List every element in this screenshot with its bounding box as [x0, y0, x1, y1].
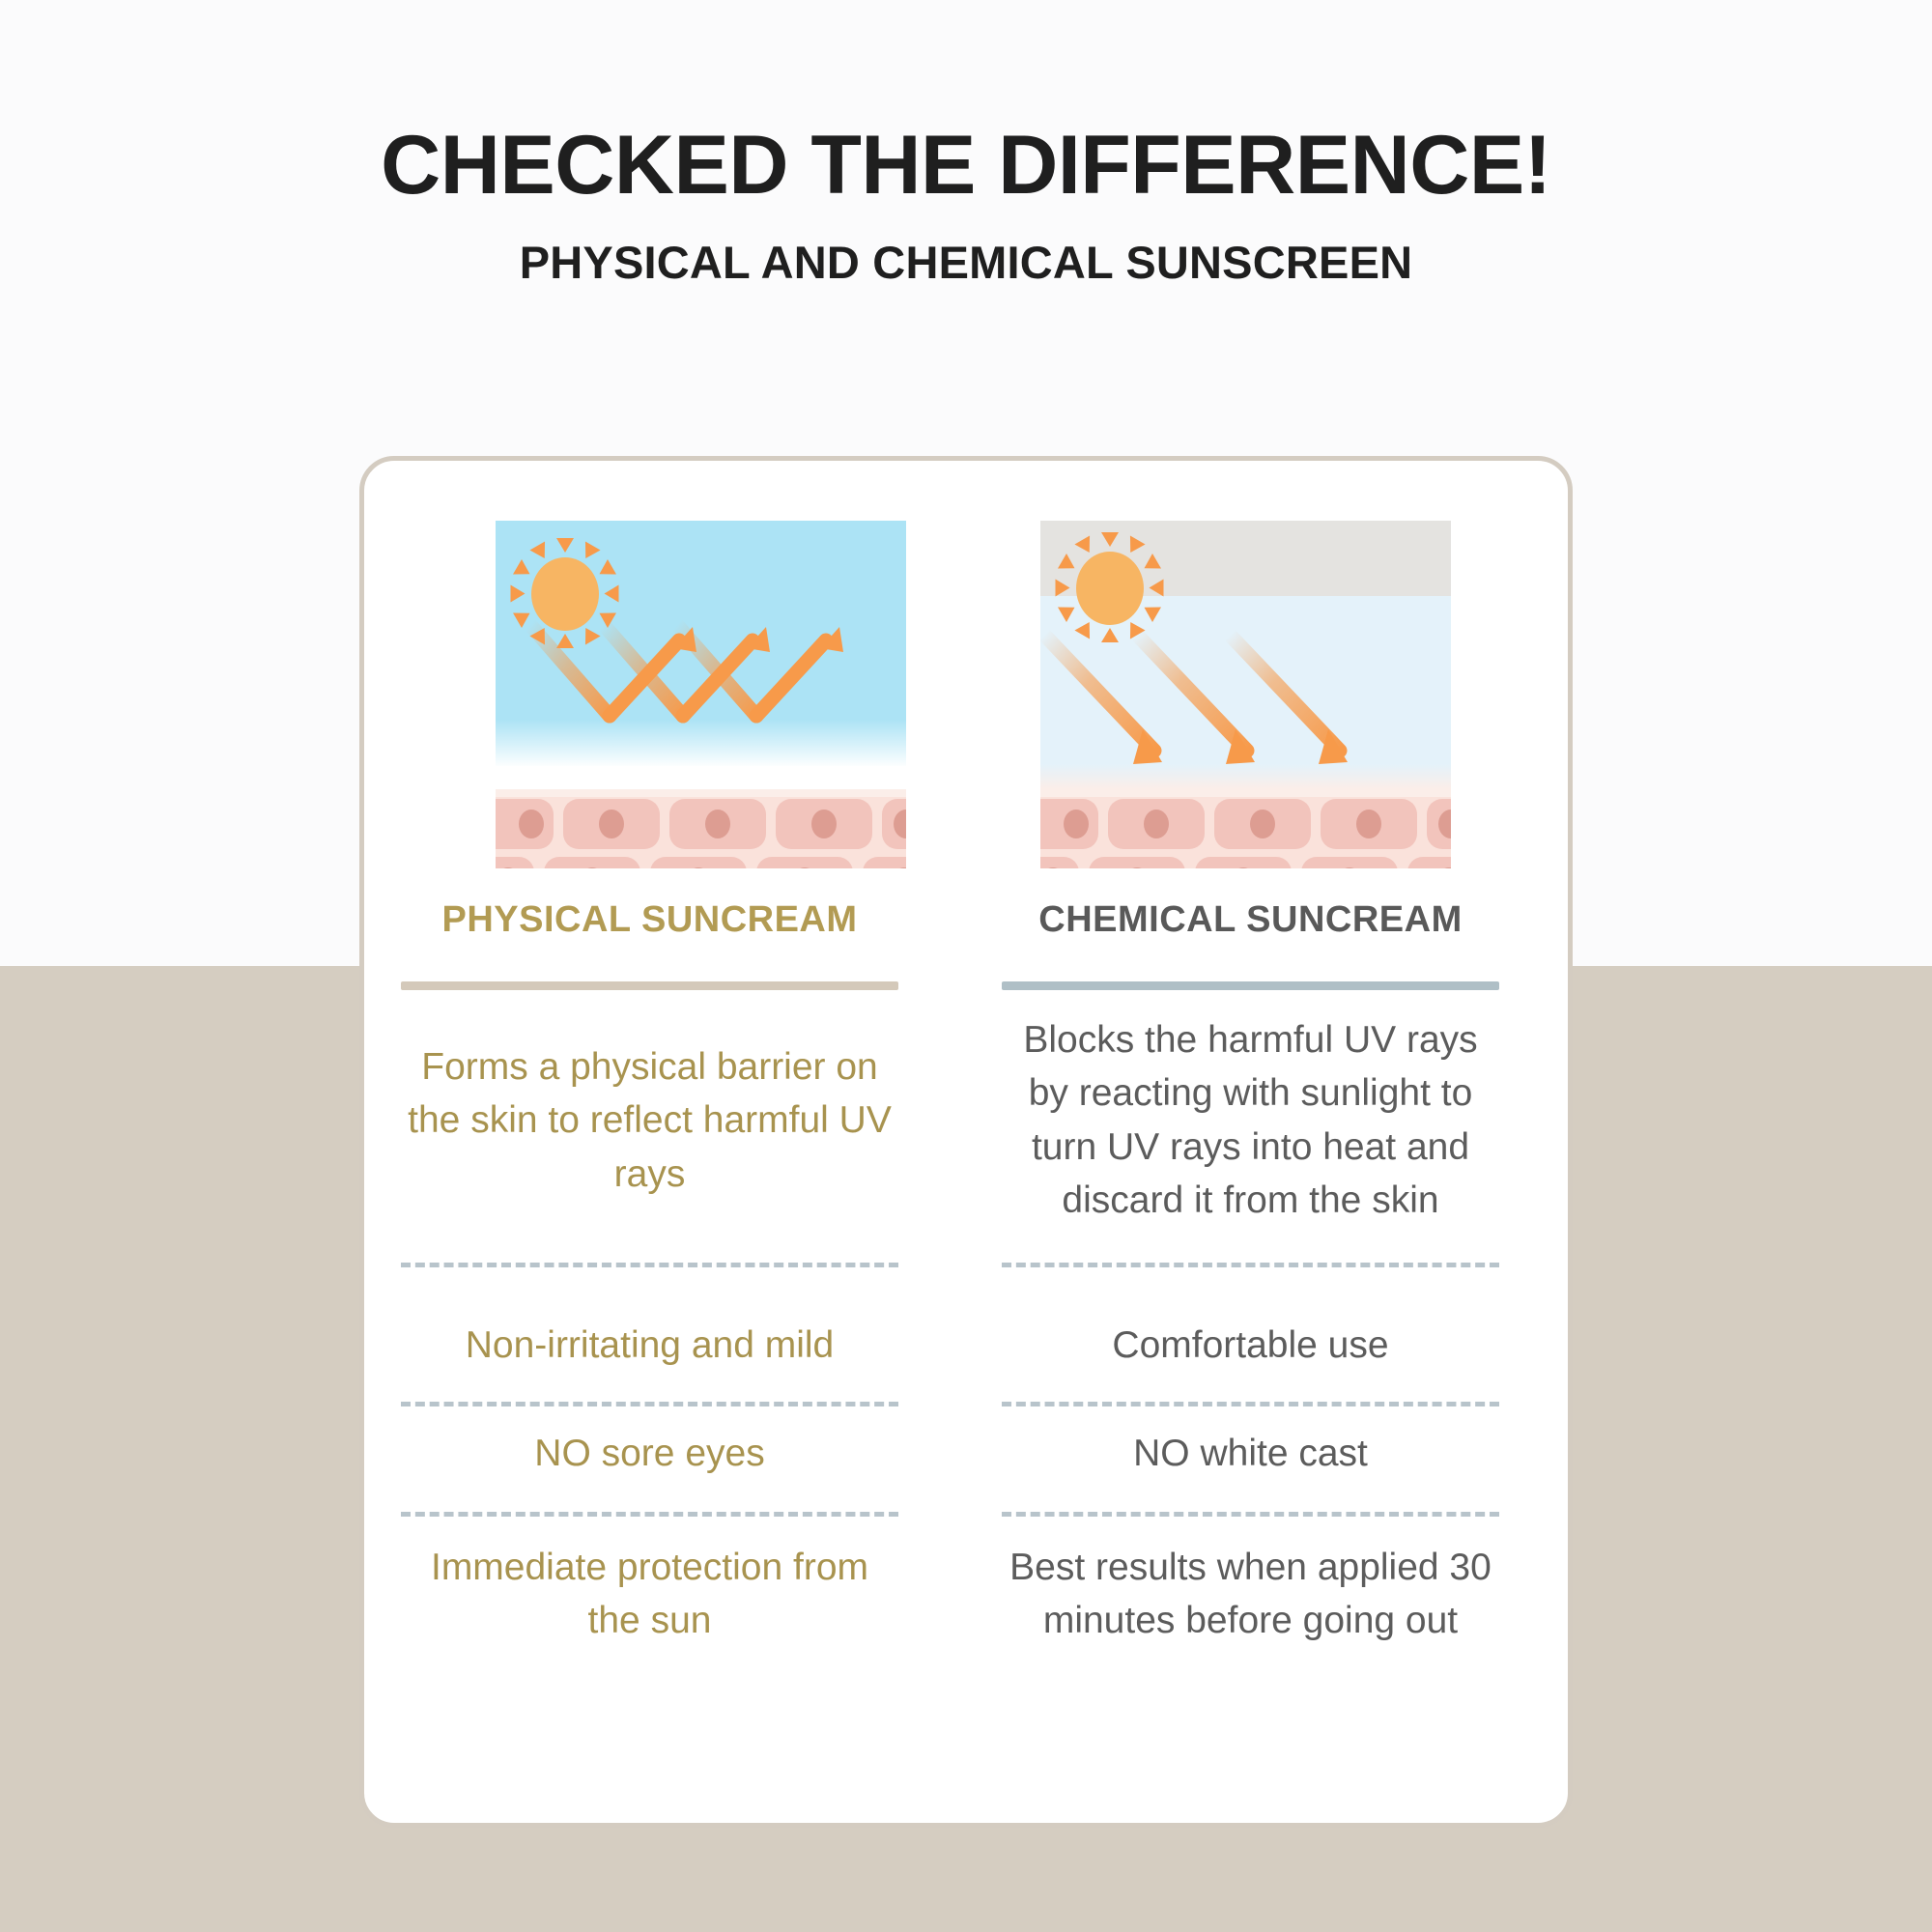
- skin-cell: [669, 799, 766, 849]
- illustration-row: [364, 521, 1568, 868]
- cell-nucleus: [1124, 867, 1150, 868]
- divider-2-right: [1002, 1402, 1499, 1406]
- skin-surface: [1040, 789, 1451, 797]
- column-header-physical: PHYSICAL SUNCREAM: [401, 900, 898, 941]
- row-1-chemical: Blocks the harmful UV rays by reacting w…: [1002, 1013, 1499, 1228]
- skin-cell: [1195, 857, 1292, 868]
- column-chemical: CHEMICAL SUNCREAM: [1002, 900, 1499, 990]
- cell-nucleus: [1356, 810, 1381, 838]
- skin-cell: [1407, 857, 1451, 868]
- row-4-physical: Immediate protection from the sun: [401, 1541, 898, 1648]
- skin-cell: [1214, 799, 1311, 849]
- cell-nucleus: [792, 867, 817, 868]
- skin-cell: [496, 857, 534, 868]
- divider-2-left: [401, 1402, 898, 1406]
- cell-nucleus: [1040, 867, 1065, 868]
- skin-cell: [756, 857, 853, 868]
- skin-cell: [650, 857, 747, 868]
- skin-cell: [1108, 799, 1205, 849]
- divider-3-left: [401, 1512, 898, 1517]
- physical-sunscreen-illustration: [496, 521, 906, 868]
- skin-layer: [496, 789, 906, 868]
- column-header-chemical: CHEMICAL SUNCREAM: [1002, 900, 1499, 941]
- row-1-physical: Forms a physical barrier on the skin to …: [401, 1040, 898, 1201]
- column-rule-physical: [401, 981, 898, 990]
- cell-nucleus: [519, 810, 544, 838]
- divider-3-right: [1002, 1512, 1499, 1517]
- cell-nucleus: [811, 810, 837, 838]
- skin-cell: [1427, 799, 1451, 849]
- skin-cell: [882, 799, 906, 849]
- cell-nucleus: [580, 867, 605, 868]
- skin-layer: [1040, 789, 1451, 868]
- page-subtitle: PHYSICAL AND CHEMICAL SUNSCREEN: [0, 240, 1932, 285]
- page-title: CHECKED THE DIFFERENCE!: [0, 124, 1932, 207]
- cell-nucleus: [599, 810, 624, 838]
- cell-nucleus: [894, 810, 906, 838]
- skin-cell: [1040, 799, 1098, 849]
- cell-nucleus: [705, 810, 730, 838]
- cell-nucleus: [1436, 867, 1451, 868]
- skin-cell: [776, 799, 872, 849]
- cell-nucleus: [496, 867, 521, 868]
- skin-surface: [496, 789, 906, 797]
- cell-nucleus: [1064, 810, 1089, 838]
- divider-1-right: [1002, 1263, 1499, 1267]
- cell-nucleus: [686, 867, 711, 868]
- cell-nucleus: [892, 867, 906, 868]
- skin-cell: [1321, 799, 1417, 849]
- row-3-physical: NO sore eyes: [401, 1427, 898, 1480]
- infographic-root: CHECKED THE DIFFERENCE! PHYSICAL AND CHE…: [0, 0, 1932, 1932]
- skin-cell: [1089, 857, 1185, 868]
- comparison-card: PHYSICAL SUNCREAM CHEMICAL SUNCREAM Form…: [359, 456, 1573, 1828]
- cell-nucleus: [1231, 867, 1256, 868]
- column-rule-chemical: [1002, 981, 1499, 990]
- cell-nucleus: [1250, 810, 1275, 838]
- chemical-sunscreen-illustration: [1040, 521, 1451, 868]
- column-physical: PHYSICAL SUNCREAM: [401, 900, 898, 990]
- skin-cell: [1301, 857, 1398, 868]
- divider-1-left: [401, 1263, 898, 1267]
- cell-nucleus: [1438, 810, 1451, 838]
- skin-cell: [863, 857, 906, 868]
- skin-cell: [544, 857, 640, 868]
- cell-nucleus: [1337, 867, 1362, 868]
- skin-cell: [496, 799, 554, 849]
- skin-cell: [563, 799, 660, 849]
- row-2-physical: Non-irritating and mild: [401, 1319, 898, 1372]
- heading-block: CHECKED THE DIFFERENCE! PHYSICAL AND CHE…: [0, 124, 1932, 285]
- row-2-chemical: Comfortable use: [1002, 1319, 1499, 1372]
- skin-cell: [1040, 857, 1079, 868]
- row-3-chemical: NO white cast: [1002, 1427, 1499, 1480]
- cell-nucleus: [1144, 810, 1169, 838]
- row-4-chemical: Best results when applied 30 minutes bef…: [1002, 1541, 1499, 1648]
